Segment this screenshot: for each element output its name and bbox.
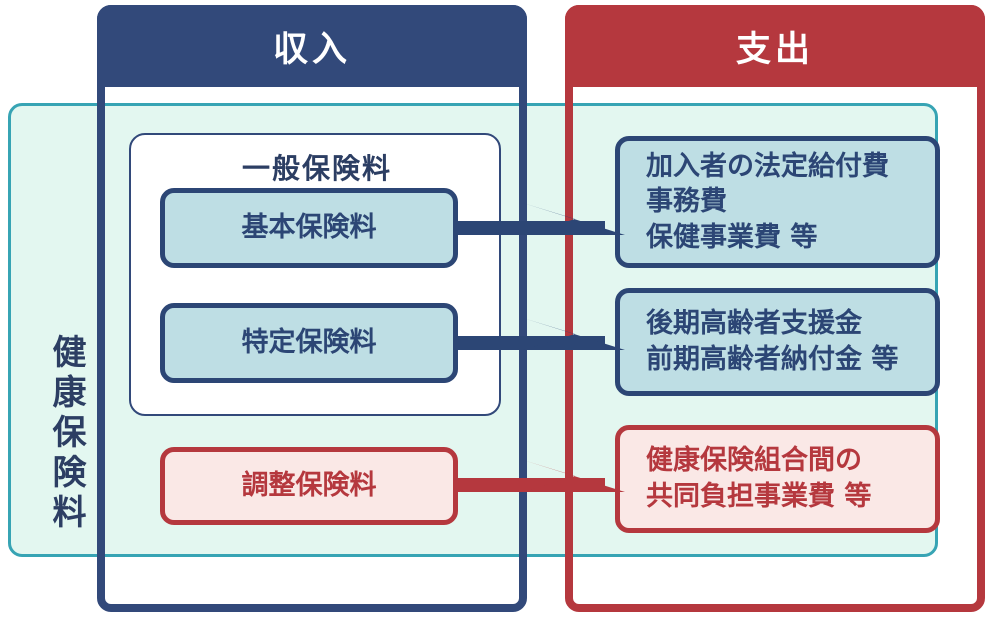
box-joint-burden-expenses[interactable]: 健康保険組合間の 共同負担事業費 等 xyxy=(615,425,940,533)
general-premium-title: 一般保険料 xyxy=(131,147,503,187)
income-column-header: 収入 xyxy=(97,5,527,87)
vertical-label-health-insurance-premium: 健康保険料 xyxy=(37,334,83,534)
box-basic-premium[interactable]: 基本保険料 xyxy=(160,188,458,268)
expense-column-header: 支出 xyxy=(565,5,985,87)
box-adjustment-premium[interactable]: 調整保険料 xyxy=(160,447,458,525)
box-statutory-benefits[interactable]: 加入者の法定給付費 事務費 保健事業費 等 xyxy=(615,136,940,268)
box-specific-premium[interactable]: 特定保険料 xyxy=(160,303,458,383)
box-elderly-support-contributions[interactable]: 後期高齢者支援金 前期高齢者納付金 等 xyxy=(615,288,940,396)
diagram-canvas: 健康保険料 収入 支出 一般保険料 基本保険料 特定保険料 調整保険料 加入者の… xyxy=(0,0,990,630)
